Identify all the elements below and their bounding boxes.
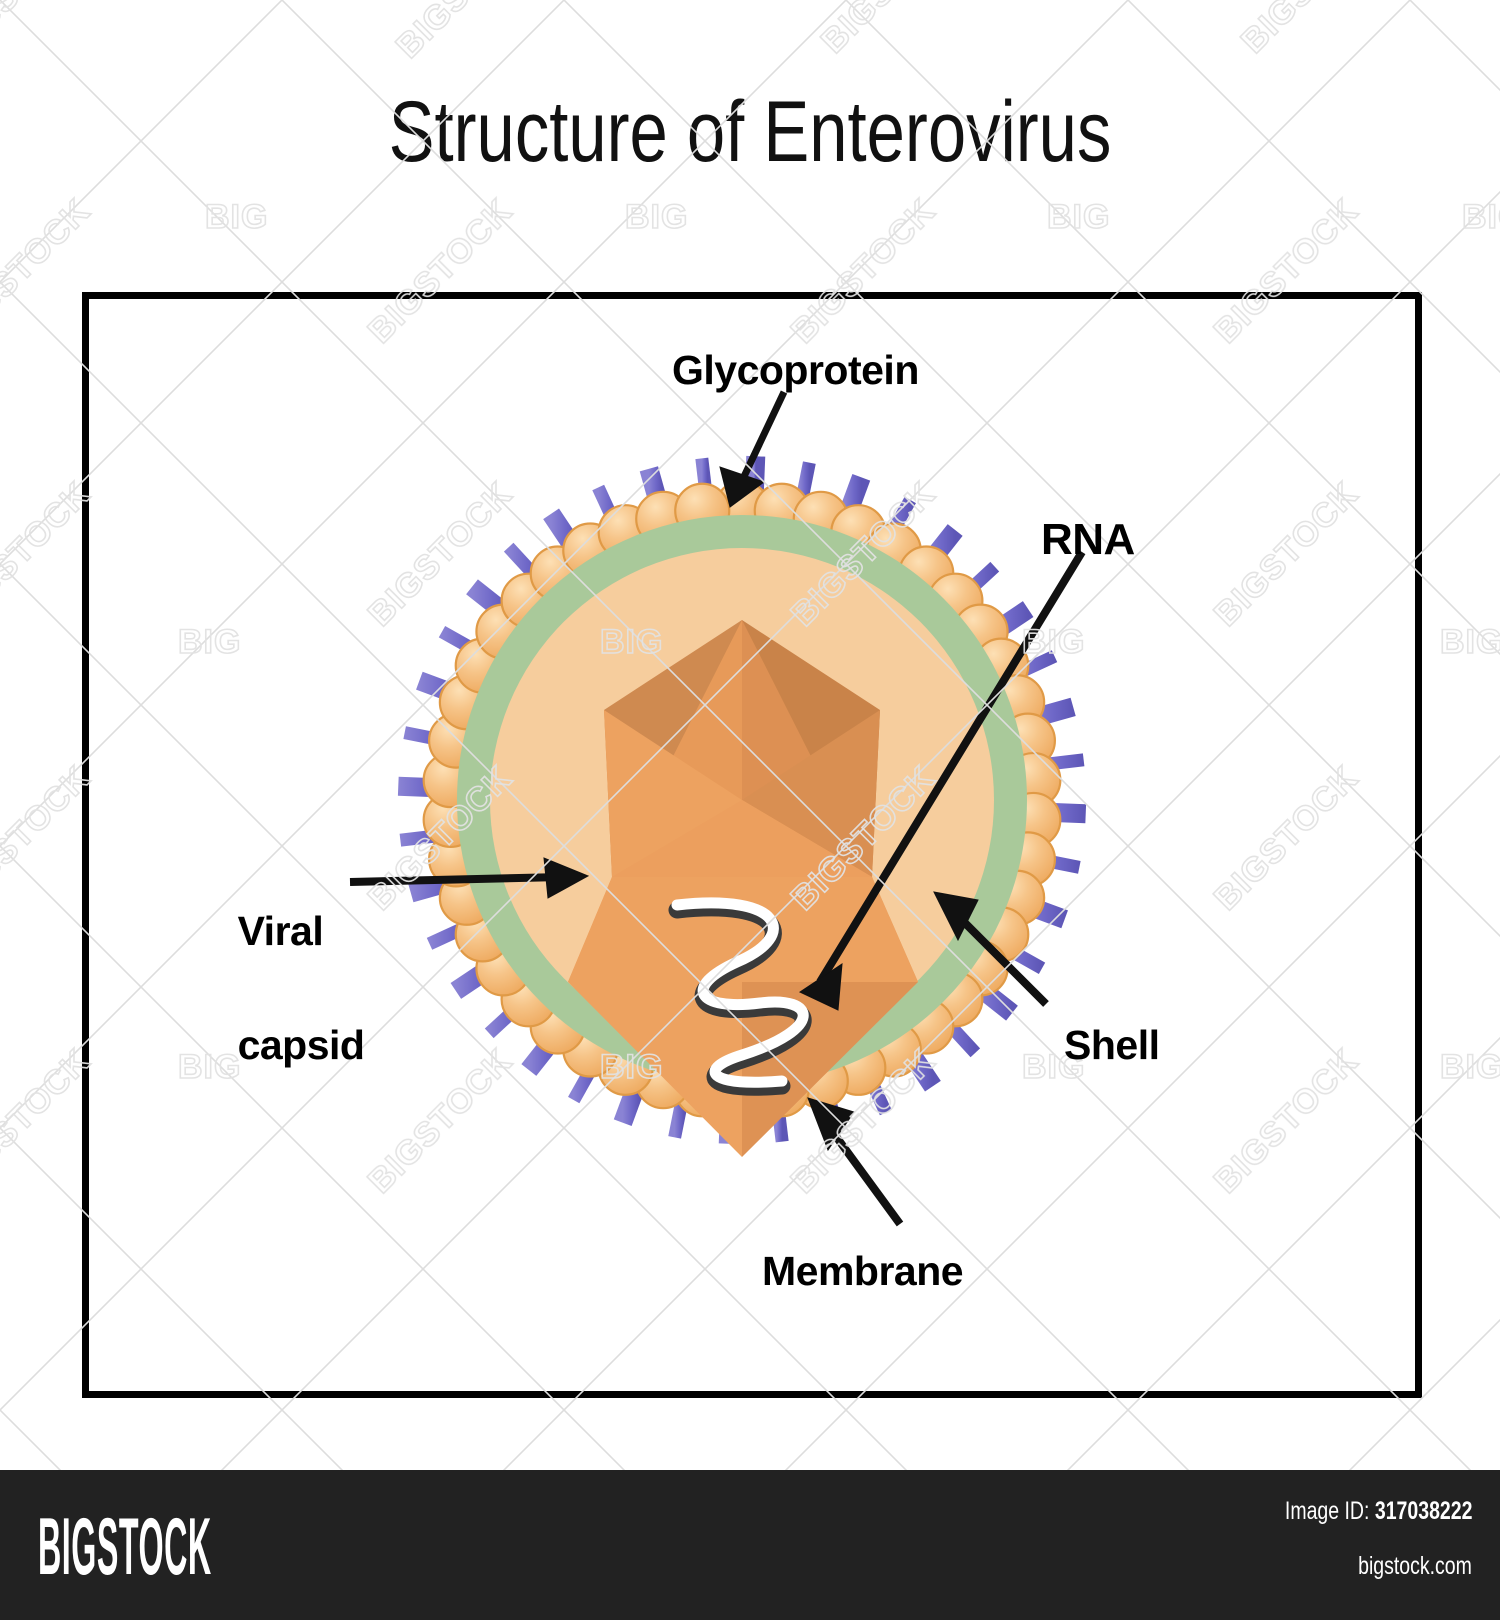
footer-bar: BIGSTOCK Image ID: 317038222 bigstock.co… [0,1470,1500,1620]
image-id-value: 317038222 [1374,1497,1472,1525]
image-id-label: Image ID: [1284,1497,1374,1525]
image-id: Image ID: 317038222 [1284,1497,1472,1526]
label-membrane: Membrane [762,1248,963,1295]
page-title: Structure of Enterovirus [150,84,1350,180]
diagram-canvas: BIGSTOCK BIG [0,0,1500,1620]
site-url: bigstock.com [1358,1552,1472,1581]
label-shell: Shell [1064,1022,1159,1069]
label-rna: RNA [1041,515,1135,565]
label-viral-capsid-line2: capsid [238,1022,365,1068]
bigstock-logo: BIGSTOCK [38,1501,212,1593]
label-viral-capsid: Viral capsid [194,846,364,1131]
label-glycoprotein: Glycoprotein [672,347,919,394]
enterovirus-diagram [82,292,1422,1398]
label-viral-capsid-line1: Viral [238,908,324,954]
